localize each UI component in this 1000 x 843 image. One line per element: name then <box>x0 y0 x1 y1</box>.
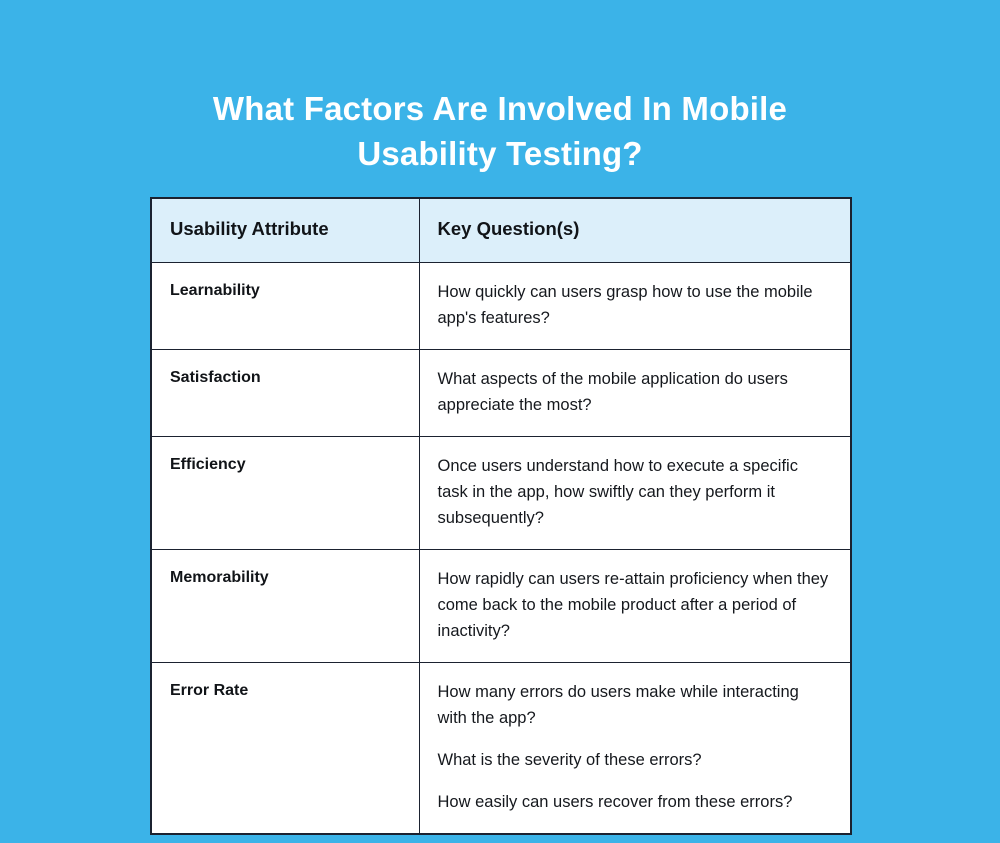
usability-factors-table: Usability Attribute Key Question(s) Lear… <box>150 197 852 835</box>
attribute-satisfaction: Satisfaction <box>151 350 419 437</box>
questions-efficiency: Once users understand how to execute a s… <box>419 437 851 550</box>
questions-error-rate: How many errors do users make while inte… <box>419 663 851 835</box>
table-row: Satisfaction What aspects of the mobile … <box>151 350 851 437</box>
attribute-memorability: Memorability <box>151 550 419 663</box>
question-text: How rapidly can users re-attain proficie… <box>438 566 833 644</box>
question-text: Once users understand how to execute a s… <box>438 453 833 531</box>
questions-learnability: How quickly can users grasp how to use t… <box>419 263 851 350</box>
infographic-container: What Factors Are Involved In Mobile Usab… <box>0 0 1000 843</box>
questions-satisfaction: What aspects of the mobile application d… <box>419 350 851 437</box>
table-header: Usability Attribute Key Question(s) <box>151 198 851 263</box>
question-text: What aspects of the mobile application d… <box>438 366 833 418</box>
questions-memorability: How rapidly can users re-attain proficie… <box>419 550 851 663</box>
question-text: How quickly can users grasp how to use t… <box>438 279 833 331</box>
table-header-row: Usability Attribute Key Question(s) <box>151 198 851 263</box>
column-header-key-questions: Key Question(s) <box>419 198 851 263</box>
page-title: What Factors Are Involved In Mobile Usab… <box>150 86 850 176</box>
table-row: Learnability How quickly can users grasp… <box>151 263 851 350</box>
question-text: What is the severity of these errors? <box>438 747 833 773</box>
table-row: Efficiency Once users understand how to … <box>151 437 851 550</box>
table-row: Error Rate How many errors do users make… <box>151 663 851 835</box>
question-text: How many errors do users make while inte… <box>438 679 833 731</box>
table-body: Learnability How quickly can users grasp… <box>151 263 851 835</box>
attribute-learnability: Learnability <box>151 263 419 350</box>
attribute-error-rate: Error Rate <box>151 663 419 835</box>
table-row: Memorability How rapidly can users re-at… <box>151 550 851 663</box>
attribute-efficiency: Efficiency <box>151 437 419 550</box>
question-text: How easily can users recover from these … <box>438 789 833 815</box>
column-header-usability-attribute: Usability Attribute <box>151 198 419 263</box>
